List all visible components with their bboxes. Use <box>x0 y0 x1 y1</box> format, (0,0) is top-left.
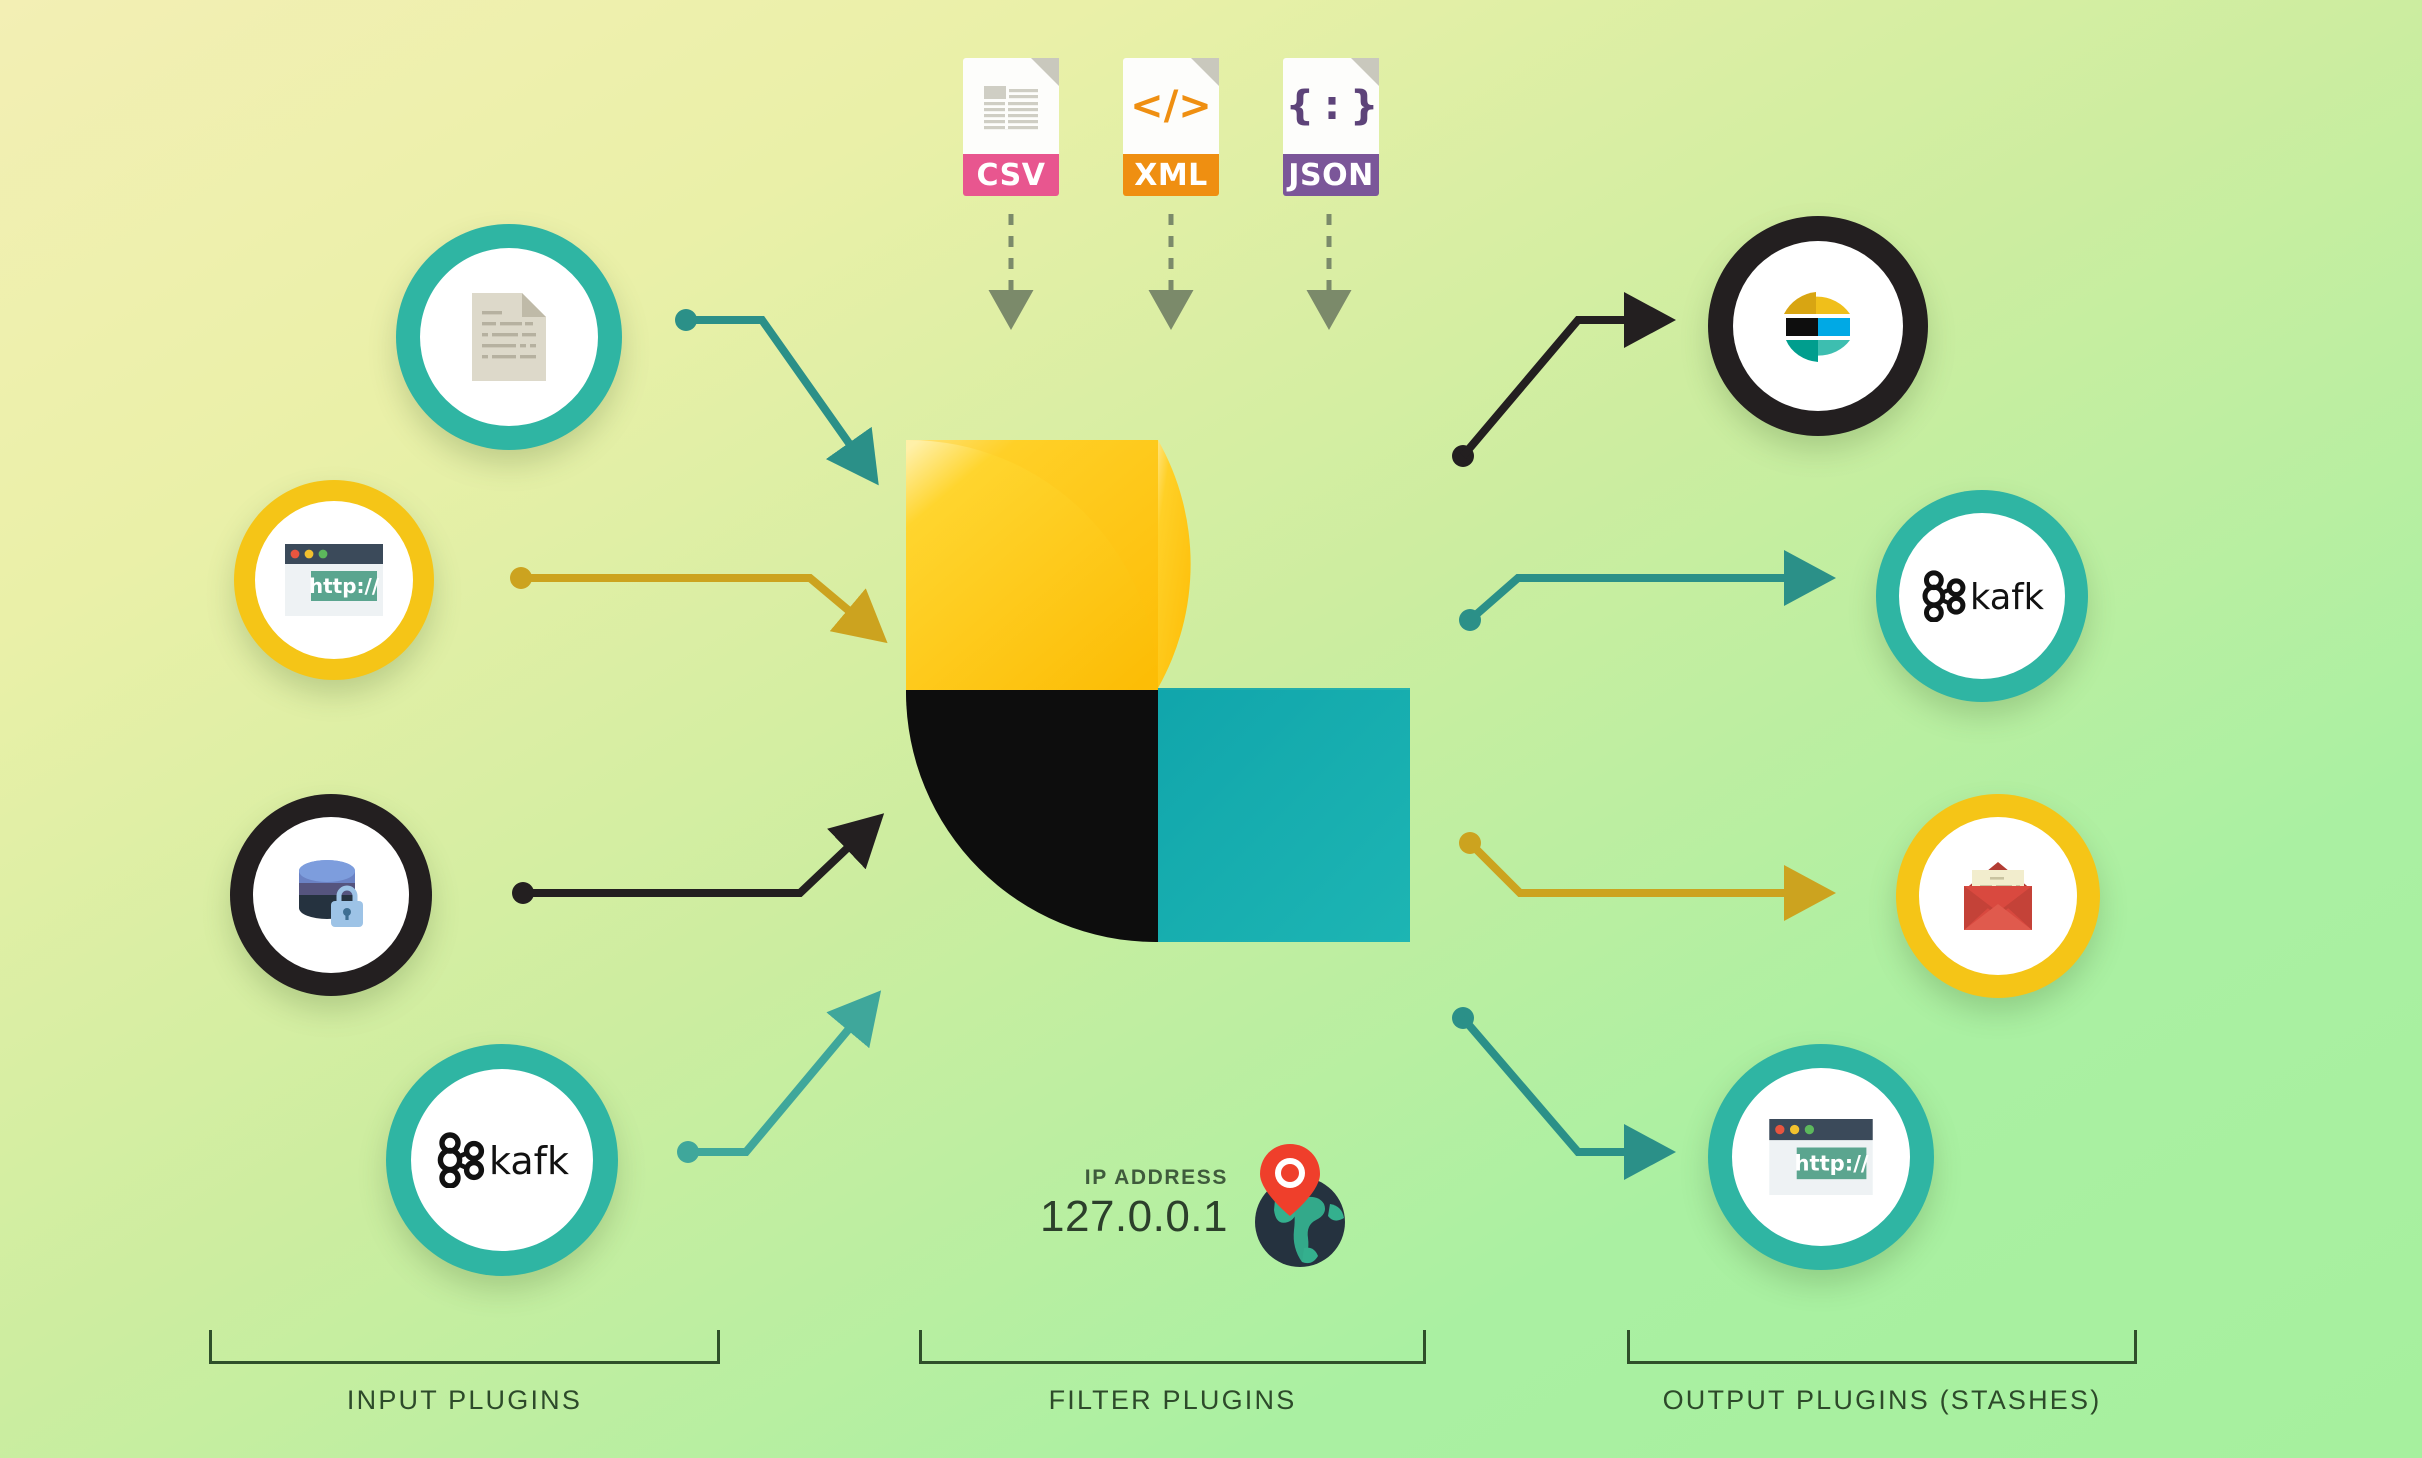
node-inner <box>1733 241 1903 411</box>
logstash-logo <box>906 440 1418 1030</box>
database-lock-icon <box>293 857 369 933</box>
ip-address-block: IP ADDRESS 127.0.0.1 <box>1040 1140 1354 1268</box>
http-browser-icon: http:// <box>285 544 383 616</box>
output-node-elasticsearch[interactable] <box>1708 216 1928 436</box>
node-inner: kafka <box>1899 513 2065 679</box>
output-node-email[interactable] <box>1896 794 2100 998</box>
connector-http-to-filter <box>510 567 860 620</box>
http-browser-icon: http:// <box>1769 1119 1873 1195</box>
globe-location-pin-icon <box>1242 1140 1354 1268</box>
node-inner <box>1919 817 2077 975</box>
node-inner: http:// <box>1732 1068 1910 1246</box>
node-inner: kafka <box>411 1069 593 1251</box>
ip-address-caption: IP ADDRESS <box>1040 1166 1228 1190</box>
svg-text:http://: http:// <box>309 574 380 598</box>
input-node-kafka[interactable]: kafka <box>386 1044 618 1276</box>
output-node-http[interactable]: http:// <box>1708 1044 1934 1270</box>
ip-address-value: 127.0.0.1 <box>1040 1192 1228 1242</box>
kafka-icon: kafka <box>1920 570 2044 622</box>
node-inner <box>253 817 409 973</box>
elasticsearch-icon <box>1776 284 1860 368</box>
connector-database-to-filter <box>512 838 858 904</box>
connector-filter-to-elasticsearch <box>1452 320 1640 467</box>
output-node-kafka[interactable]: kafka <box>1876 490 2088 702</box>
connector-filter-to-http-out <box>1452 1007 1640 1152</box>
node-inner <box>420 248 598 426</box>
section-label-filter: FILTER PLUGINS <box>919 1385 1426 1416</box>
connector-filter-to-kafka-out <box>1459 578 1800 631</box>
section-label-output: OUTPUT PLUGINS (STASHES) <box>1627 1385 2137 1416</box>
svg-text:kafka: kafka <box>489 1139 569 1183</box>
file-document-icon <box>472 293 546 381</box>
node-inner: http:// <box>255 501 413 659</box>
diagram-canvas: CSV </> XML { : } JSON <box>0 0 2422 1458</box>
logstash-logo-corners <box>906 440 1418 1030</box>
email-envelope-icon <box>1958 860 2038 932</box>
ip-address-text: IP ADDRESS 127.0.0.1 <box>1040 1166 1228 1242</box>
bracket-input <box>209 1330 720 1364</box>
connector-filter-to-email <box>1459 832 1800 893</box>
bracket-filter <box>919 1330 1426 1364</box>
input-node-file[interactable] <box>396 224 622 450</box>
connector-kafka-in-to-filter <box>677 1018 858 1163</box>
input-node-http[interactable]: http:// <box>234 480 434 680</box>
svg-text:kafka: kafka <box>1970 577 2044 618</box>
section-label-input: INPUT PLUGINS <box>209 1385 720 1416</box>
svg-text:http://: http:// <box>1794 1151 1868 1176</box>
connector-file-to-filter <box>675 309 858 456</box>
bracket-output <box>1627 1330 2137 1364</box>
kafka-icon: kafka <box>435 1132 569 1188</box>
input-node-database[interactable] <box>230 794 432 996</box>
